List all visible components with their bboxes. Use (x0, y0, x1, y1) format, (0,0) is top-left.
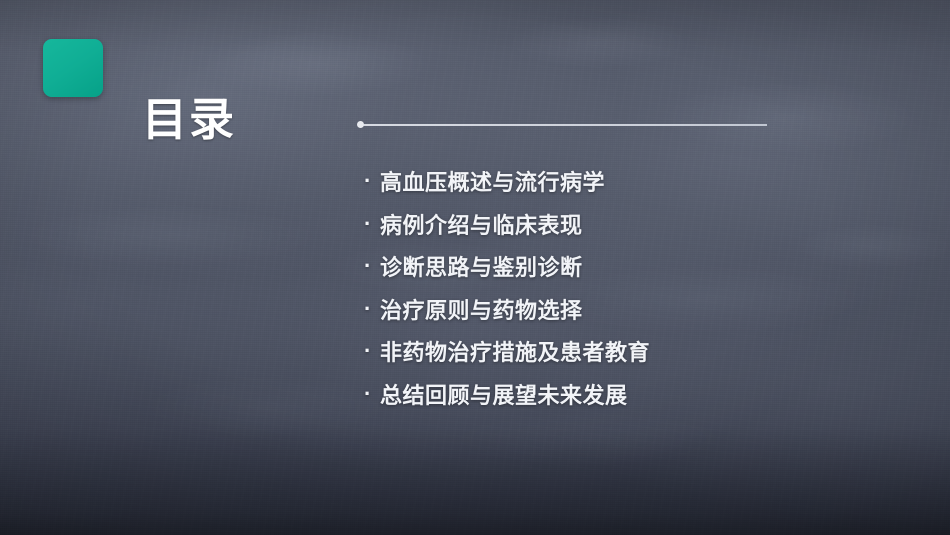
bullet-dot-icon: · (364, 255, 380, 277)
presentation-slide: 目录 · 高血压概述与流行病学 · 病例介绍与临床表现 · 诊断思路与鉴别诊断 … (0, 0, 950, 535)
bullet-dot-icon: · (364, 213, 380, 235)
agenda-item-2[interactable]: · 病例介绍与临床表现 (364, 203, 650, 246)
agenda-item-label: 诊断思路与鉴别诊断 (380, 250, 583, 282)
agenda-item-6[interactable]: · 总结回顾与展望未来发展 (364, 373, 650, 416)
title-divider (357, 121, 767, 128)
divider-line (363, 124, 767, 126)
agenda-item-label: 治疗原则与药物选择 (380, 293, 583, 325)
agenda-item-1[interactable]: · 高血压概述与流行病学 (364, 160, 650, 203)
agenda-item-label: 病例介绍与临床表现 (380, 208, 583, 240)
agenda-item-5[interactable]: · 非药物治疗措施及患者教育 (364, 330, 650, 373)
agenda-item-label: 总结回顾与展望未来发展 (380, 378, 628, 410)
agenda-item-label: 高血压概述与流行病学 (380, 165, 605, 197)
bullet-dot-icon: · (364, 340, 380, 362)
bullet-dot-icon: · (364, 298, 380, 320)
agenda-list: · 高血压概述与流行病学 · 病例介绍与临床表现 · 诊断思路与鉴别诊断 · 治… (364, 160, 650, 415)
agenda-item-4[interactable]: · 治疗原则与药物选择 (364, 288, 650, 331)
teal-square-logo-icon (43, 39, 103, 97)
bullet-dot-icon: · (364, 170, 380, 192)
agenda-item-3[interactable]: · 诊断思路与鉴别诊断 (364, 245, 650, 288)
agenda-item-label: 非药物治疗措施及患者教育 (380, 335, 650, 367)
bullet-dot-icon: · (364, 383, 380, 405)
page-title: 目录 (142, 97, 236, 142)
